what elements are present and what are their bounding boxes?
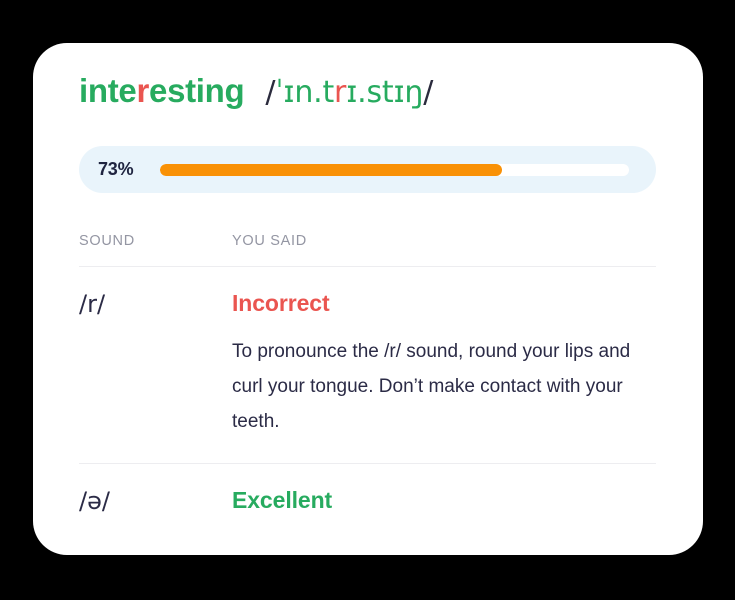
- sounds-table: SOUND YOU SAID /r/ Incorrect To pronounc…: [79, 233, 656, 538]
- status-badge: Incorrect: [232, 291, 656, 317]
- ipa-segment-correct-2: ɪ.stɪŋ: [346, 75, 423, 110]
- table-row[interactable]: /ə/ Excellent: [79, 464, 656, 538]
- row-sound-symbol: /r/: [79, 291, 232, 439]
- row-result-cell: Excellent: [232, 488, 656, 514]
- ipa-segment-correct-1: ˈɪn.t: [275, 75, 334, 110]
- column-header-you-said: YOU SAID: [232, 233, 656, 249]
- column-header-sound: SOUND: [79, 233, 232, 249]
- headword-segment-correct-2: esting: [149, 72, 244, 109]
- ipa-slash-open: /: [265, 75, 275, 110]
- row-result-cell: Incorrect To pronounce the /r/ sound, ro…: [232, 291, 656, 439]
- headword-segment-correct-1: inte: [79, 72, 136, 109]
- table-row[interactable]: /r/ Incorrect To pronounce the /r/ sound…: [79, 267, 656, 463]
- status-badge: Excellent: [232, 488, 656, 514]
- headword-ipa-transcription: /ˈɪn.trɪ.stɪŋ/: [265, 75, 433, 110]
- pronunciation-result-card: interesting /ˈɪn.trɪ.stɪŋ/ 73% SOUND YOU…: [33, 43, 703, 555]
- pronunciation-tip: To pronounce the /r/ sound, round your l…: [232, 334, 656, 439]
- screen-background: interesting /ˈɪn.trɪ.stɪŋ/ 73% SOUND YOU…: [0, 0, 735, 600]
- table-header-row: SOUND YOU SAID: [79, 233, 656, 266]
- headword-spelling: interesting: [79, 72, 244, 110]
- ipa-segment-incorrect: r: [334, 75, 346, 110]
- row-sound-symbol: /ə/: [79, 488, 232, 514]
- progress-track: [160, 164, 629, 176]
- score-percent-label: 73%: [79, 159, 160, 180]
- headword-row: interesting /ˈɪn.trɪ.stɪŋ/: [79, 72, 433, 110]
- progress-fill: [160, 164, 502, 176]
- headword-segment-incorrect: r: [136, 72, 149, 109]
- score-progress-bar: 73%: [79, 146, 656, 193]
- ipa-slash-close: /: [423, 75, 433, 110]
